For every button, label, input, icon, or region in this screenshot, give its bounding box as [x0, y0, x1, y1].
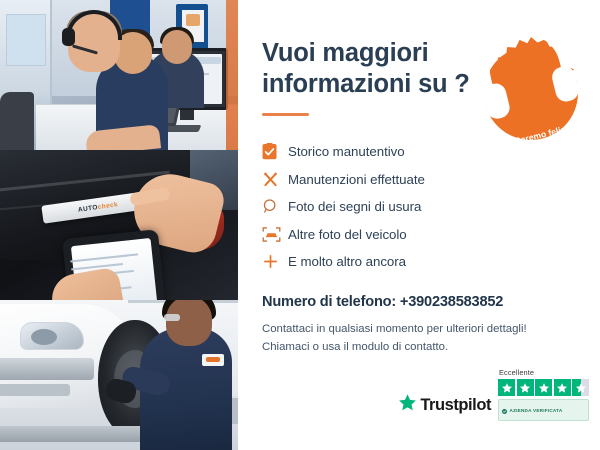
plus-icon: [262, 253, 288, 270]
feature-item-manutenzioni-effettuate: Manutenzioni effettuate: [262, 166, 578, 193]
verified-check-icon: [502, 401, 507, 419]
feature-label: Altre foto del veicolo: [288, 227, 407, 242]
feature-item-foto-segni-usura: Foto dei segni di usura: [262, 193, 578, 220]
trustpilot-rating-block[interactable]: Trustpilot Eccellente: [398, 368, 589, 421]
feature-label: Manutenzioni effettuate: [288, 172, 425, 187]
star-filled: [554, 379, 571, 396]
star-filled: [535, 379, 552, 396]
checklist-icon: [262, 143, 288, 160]
on-request-badge: Saremo felici di fornirti queste informa…: [471, 33, 591, 153]
feature-label: E molto altro ancora: [288, 254, 406, 269]
trustpilot-star-icon: [398, 393, 417, 417]
phone-label: Numero di telefono:: [262, 294, 396, 310]
car-grille: [0, 358, 94, 380]
feature-list: Storico manutentivo Manutenzioni effettu…: [262, 138, 578, 275]
photo-column: AUTOcheck: [0, 0, 238, 450]
verified-badge-label: AZIENDA VERIFICATA: [510, 408, 563, 413]
car-headlight: [20, 322, 84, 350]
foreground-agent-with-headset: [22, 44, 154, 150]
photo-call-centre-agents-with-headsets: [0, 0, 238, 150]
headline-line-2: informazioni su ?: [262, 70, 470, 98]
trustpilot-rating-label: Eccellente: [499, 368, 534, 377]
search-icon: [262, 198, 288, 215]
feature-item-altre-foto-veicolo: Altre foto del veicolo: [262, 221, 578, 248]
verified-business-badge: AZIENDA VERIFICATA: [498, 399, 589, 421]
star-half: [572, 379, 589, 396]
star-filled: [498, 379, 515, 396]
trustpilot-score: Eccellente: [498, 368, 589, 421]
technician-hand-lower: [48, 266, 126, 300]
gauge-brand-prefix: AUTO: [78, 204, 99, 214]
contact-subtext: Contattaci in qualsiasi momento per ulte…: [262, 321, 578, 356]
orange-shelving: [226, 0, 238, 150]
headline-line-1: Vuoi maggiori: [262, 39, 428, 67]
star-filled: [517, 379, 534, 396]
promo-card: AUTOcheck: [0, 0, 600, 450]
mechanic-figure: [140, 328, 232, 450]
gauge-brand-suffix: check: [97, 201, 118, 211]
contact-subtext-line-2: Chiamaci o usa il modulo di contatto.: [262, 341, 448, 353]
phone-number[interactable]: +390238583852: [400, 294, 503, 310]
car-frame-icon: [262, 226, 288, 243]
car-lift-platform: [0, 426, 150, 442]
trustpilot-logo[interactable]: Trustpilot: [398, 393, 491, 421]
photo-mechanic-inspecting-white-car-wheel: [0, 300, 238, 450]
photo-paint-thickness-gauge-on-dark-car: AUTOcheck: [0, 150, 238, 300]
feature-label: Storico manutentivo: [288, 144, 405, 159]
contact-subtext-line-1: Contattaci in qualsiasi momento per ulte…: [262, 323, 527, 335]
content-panel: Vuoi maggiori informazioni su ?: [238, 0, 600, 450]
car-lower-grille: [0, 384, 70, 396]
tools-cross-icon: [262, 171, 288, 188]
trustpilot-wordmark: Trustpilot: [420, 396, 491, 415]
page-title: Vuoi maggiori informazioni su ?: [262, 38, 477, 100]
starburst-shape-icon: [471, 33, 591, 153]
monitor-stand: [180, 110, 194, 120]
phone-number-line: Numero di telefono: +390238583852: [262, 294, 578, 310]
trustpilot-stars: [498, 379, 589, 396]
headline-underline-rule: [262, 113, 309, 116]
feature-item-molto-altro-ancora: E molto altro ancora: [262, 248, 578, 275]
feature-label: Foto dei segni di usura: [288, 199, 421, 214]
